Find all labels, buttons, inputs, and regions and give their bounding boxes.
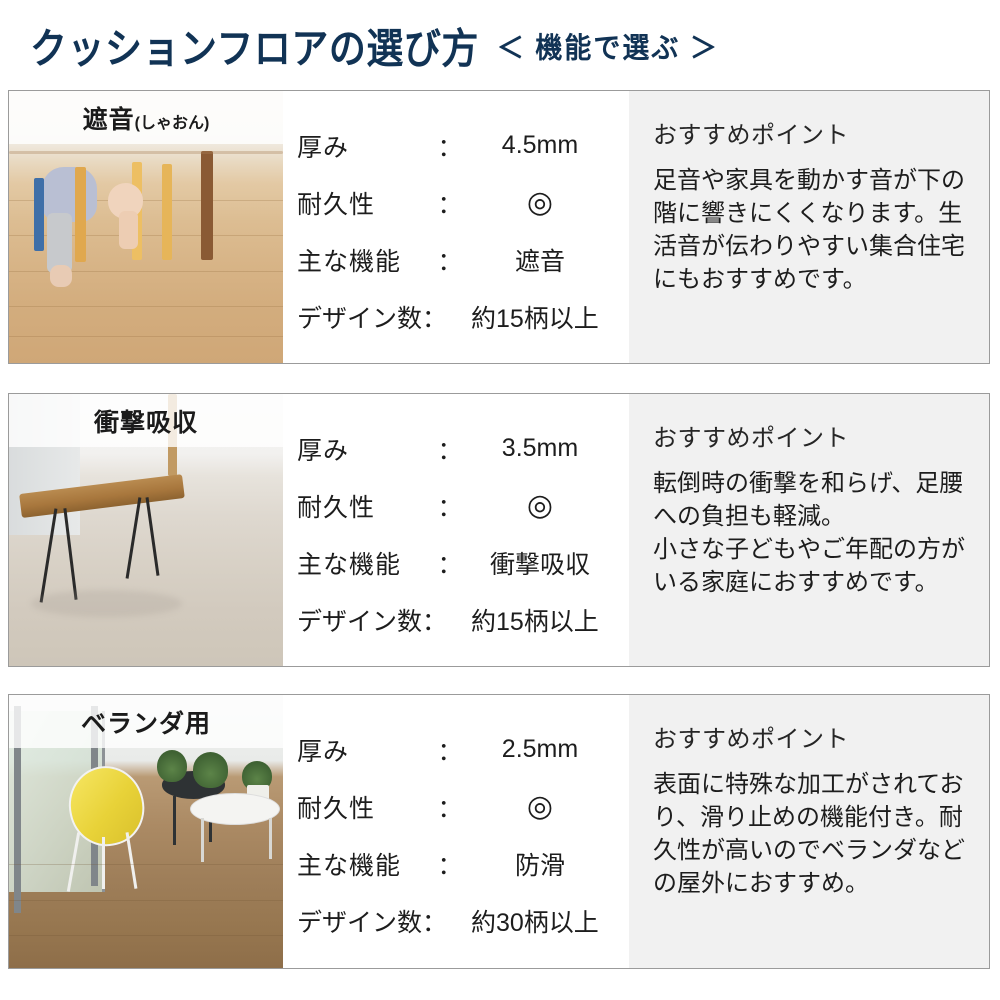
spec-row-durability: 耐久性 ： ◎ bbox=[297, 477, 629, 534]
card-specs: 厚み ： 4.5mm 耐久性 ： ◎ 主な機能 ： 遮音 デザイン数： 約15柄… bbox=[283, 91, 629, 363]
spec-label: 主な機能 bbox=[297, 846, 433, 882]
photo-label-band: ベランダ用 bbox=[9, 695, 283, 748]
page-title: クッションフロアの選び方 bbox=[30, 15, 479, 75]
card-description: おすすめポイント 転倒時の衝撃を和らげ、足腰への負担も軽減。 小さな子どもやご年… bbox=[629, 394, 989, 666]
spec-value-function: 遮音 bbox=[467, 242, 629, 278]
photo-label-band: 遮音(しゃおん) bbox=[9, 91, 283, 144]
spec-label: デザイン数： bbox=[297, 299, 467, 335]
product-card: ベランダ用 厚み ： 2.5mm 耐久性 ： ◎ 主な機能 ： 防滑 デザイン数… bbox=[8, 694, 990, 969]
spec-label: 耐久性 bbox=[297, 789, 433, 825]
spec-value-design-count: 約15柄以上 bbox=[467, 299, 629, 335]
spec-row-design-count: デザイン数： 約15柄以上 bbox=[297, 591, 629, 648]
desc-heading: おすすめポイント bbox=[653, 115, 973, 150]
spec-colon: ： bbox=[433, 242, 467, 278]
spec-label: 耐久性 bbox=[297, 185, 433, 221]
card-photo: 衝撃吸収 bbox=[9, 394, 283, 666]
card-specs: 厚み ： 3.5mm 耐久性 ： ◎ 主な機能 ： 衝撃吸収 デザイン数： 約1… bbox=[283, 394, 629, 666]
spec-value-thickness: 3.5mm bbox=[467, 434, 629, 463]
photo-label: 遮音(しゃおん) bbox=[83, 100, 210, 136]
spec-value-thickness: 2.5mm bbox=[467, 735, 629, 764]
spec-value-function: 衝撃吸収 bbox=[467, 545, 629, 581]
desc-heading: おすすめポイント bbox=[653, 719, 973, 754]
spec-value-thickness: 4.5mm bbox=[467, 131, 629, 160]
product-card: 衝撃吸収 厚み ： 3.5mm 耐久性 ： ◎ 主な機能 ： 衝撃吸収 デザイン… bbox=[8, 393, 990, 667]
spec-colon: ： bbox=[433, 431, 467, 467]
spec-row-design-count: デザイン数： 約30柄以上 bbox=[297, 892, 629, 949]
page-subtitle: ＜ 機能で選ぶ ＞ bbox=[497, 25, 719, 66]
spec-value-function: 防滑 bbox=[467, 846, 629, 882]
desc-heading: おすすめポイント bbox=[653, 418, 973, 453]
card-photo: 遮音(しゃおん) bbox=[9, 91, 283, 363]
spec-row-function: 主な機能 ： 防滑 bbox=[297, 835, 629, 892]
photo-label: ベランダ用 bbox=[81, 704, 211, 740]
spec-value-durability: ◎ bbox=[467, 792, 629, 822]
spec-value-design-count: 約30柄以上 bbox=[467, 903, 629, 939]
spec-value-design-count: 約15柄以上 bbox=[467, 602, 629, 638]
spec-row-thickness: 厚み ： 2.5mm bbox=[297, 721, 629, 778]
spec-label: 厚み bbox=[297, 732, 433, 768]
spec-label: デザイン数： bbox=[297, 903, 467, 939]
card-specs: 厚み ： 2.5mm 耐久性 ： ◎ 主な機能 ： 防滑 デザイン数： 約30柄… bbox=[283, 695, 629, 968]
spec-colon: ： bbox=[433, 128, 467, 164]
spec-colon: ： bbox=[433, 488, 467, 524]
product-card: 遮音(しゃおん) 厚み ： 4.5mm 耐久性 ： ◎ 主な機能 ： 遮音 デザ… bbox=[8, 90, 990, 364]
desc-body: 足音や家具を動かす音が下の階に響きにくくなります。生活音が伝わりやすい集合住宅に… bbox=[653, 164, 973, 296]
page-header: クッションフロアの選び方 ＜ 機能で選ぶ ＞ bbox=[0, 0, 1000, 90]
spec-value-durability: ◎ bbox=[467, 491, 629, 521]
card-photo: ベランダ用 bbox=[9, 695, 283, 968]
spec-label: 厚み bbox=[297, 431, 433, 467]
card-description: おすすめポイント 表面に特殊な加工がされており、滑り止めの機能付き。耐久性が高い… bbox=[629, 695, 989, 968]
photo-label: 衝撃吸収 bbox=[94, 403, 198, 439]
spec-label: 厚み bbox=[297, 128, 433, 164]
spec-colon: ： bbox=[433, 846, 467, 882]
spec-label: デザイン数： bbox=[297, 602, 467, 638]
spec-label: 主な機能 bbox=[297, 242, 433, 278]
spec-row-thickness: 厚み ： 3.5mm bbox=[297, 420, 629, 477]
spec-colon: ： bbox=[433, 732, 467, 768]
spec-row-function: 主な機能 ： 遮音 bbox=[297, 231, 629, 288]
spec-label: 主な機能 bbox=[297, 545, 433, 581]
spec-colon: ： bbox=[433, 545, 467, 581]
spec-label: 耐久性 bbox=[297, 488, 433, 524]
card-description: おすすめポイント 足音や家具を動かす音が下の階に響きにくくなります。生活音が伝わ… bbox=[629, 91, 989, 363]
spec-colon: ： bbox=[433, 185, 467, 221]
spec-row-design-count: デザイン数： 約15柄以上 bbox=[297, 288, 629, 345]
photo-label-band: 衝撃吸収 bbox=[9, 394, 283, 447]
spec-colon: ： bbox=[433, 789, 467, 825]
spec-row-thickness: 厚み ： 4.5mm bbox=[297, 117, 629, 174]
spec-row-durability: 耐久性 ： ◎ bbox=[297, 778, 629, 835]
desc-body: 転倒時の衝撃を和らげ、足腰への負担も軽減。 小さな子どもやご年配の方がいる家庭に… bbox=[653, 467, 973, 599]
desc-body: 表面に特殊な加工がされており、滑り止めの機能付き。耐久性が高いのでベランダなどの… bbox=[653, 768, 973, 900]
spec-value-durability: ◎ bbox=[467, 188, 629, 218]
spec-row-function: 主な機能 ： 衝撃吸収 bbox=[297, 534, 629, 591]
spec-row-durability: 耐久性 ： ◎ bbox=[297, 174, 629, 231]
